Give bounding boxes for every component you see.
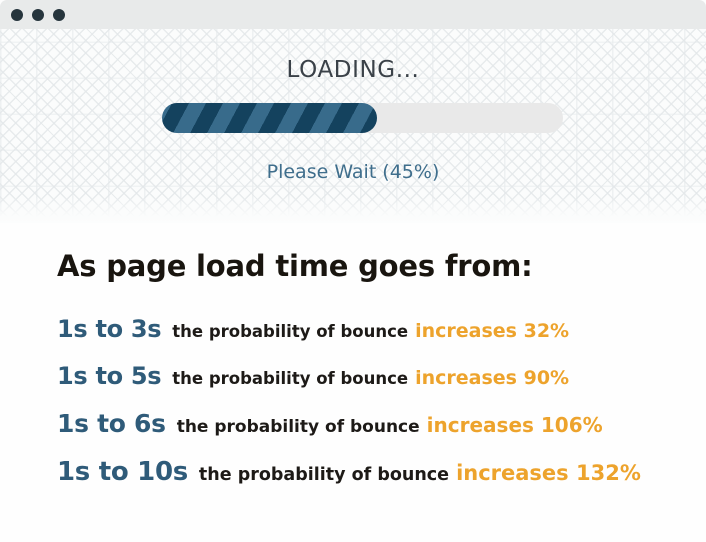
progress-caption: Please Wait (45%) <box>0 161 706 183</box>
stat-description: the probability of bounce <box>172 369 408 388</box>
stat-range-label: 1s to 6s <box>57 409 166 438</box>
list-item: 1s to 10s the probability of bounce incr… <box>57 457 677 487</box>
stat-delta-value: increases 90% <box>415 367 569 389</box>
stat-delta-value: increases 132% <box>456 461 641 485</box>
stat-range-label: 1s to 10s <box>57 457 188 487</box>
loading-title: LOADING... <box>0 57 706 83</box>
window-titlebar <box>0 0 706 29</box>
list-item: 1s to 6s the probability of bounce incre… <box>57 409 677 438</box>
minimize-dot-icon[interactable] <box>32 9 44 21</box>
close-dot-icon[interactable] <box>11 9 23 21</box>
progress-bar-track[interactable] <box>162 103 563 133</box>
list-item: 1s to 3s the probability of bounce incre… <box>57 315 677 343</box>
stat-description: the probability of bounce <box>172 322 408 341</box>
stat-description: the probability of bounce <box>199 465 449 485</box>
panel-fade-overlay <box>0 197 706 223</box>
stat-description: the probability of bounce <box>177 417 420 437</box>
stat-range-label: 1s to 5s <box>57 362 161 390</box>
stats-list: 1s to 3s the probability of bounce incre… <box>57 315 677 506</box>
page-root: LOADING... Please Wait (45%) As page loa… <box>0 0 706 542</box>
progress-bar-fill <box>162 103 377 133</box>
stat-delta-value: increases 32% <box>415 320 569 342</box>
page-title: As page load time goes from: <box>57 249 533 283</box>
stat-delta-value: increases 106% <box>427 413 603 437</box>
stats-section: As page load time goes from: 1s to 3s th… <box>0 223 706 542</box>
maximize-dot-icon[interactable] <box>53 9 65 21</box>
list-item: 1s to 5s the probability of bounce incre… <box>57 362 677 390</box>
stat-range-label: 1s to 3s <box>57 315 161 343</box>
